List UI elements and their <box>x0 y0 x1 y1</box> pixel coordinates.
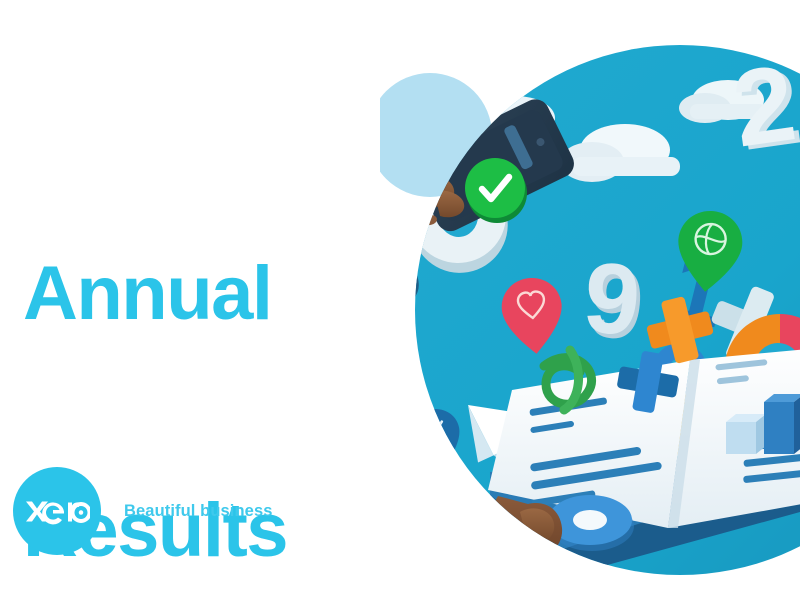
hand-left-illustration <box>491 496 562 596</box>
xero-logo-icon <box>13 467 101 555</box>
number-9-glyph: 9 9 <box>579 241 649 362</box>
title-slide: 2 2 5 9 9 <box>0 0 800 600</box>
brand-lockup: Beautiful business <box>13 467 273 555</box>
title-line-1: Annual <box>23 254 403 333</box>
svg-text:9: 9 <box>579 241 644 357</box>
hero-illustration: 2 2 5 9 9 <box>380 0 800 600</box>
brand-tagline: Beautiful business <box>124 502 273 521</box>
